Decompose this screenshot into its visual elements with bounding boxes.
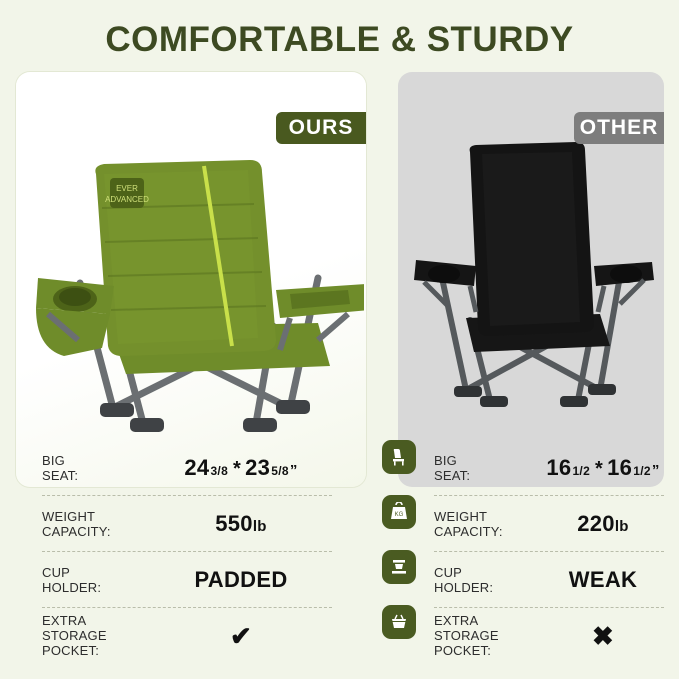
spec-row-storage-ours: EXTRA STORAGEPOCKET: ✔ xyxy=(42,608,332,663)
spec-label-storage-other: EXTRA STORAGEPOCKET: xyxy=(434,613,542,658)
spec-icon-column: KG xyxy=(382,440,424,660)
seat-sep-other: * xyxy=(595,458,603,480)
spec-label-cup-other: CUPHOLDER: xyxy=(434,565,542,595)
seat-frac2: 5/8 xyxy=(271,465,289,477)
cup-holder-icon xyxy=(382,550,416,584)
spec-label-seat: BIGSEAT: xyxy=(42,453,150,483)
seat-frac1: 3/8 xyxy=(210,465,228,477)
svg-text:ADVANCED: ADVANCED xyxy=(105,195,149,204)
other-spec-table: BIGSEAT: 161/2*161/2” WEIGHTCAPACITY: 22… xyxy=(434,440,664,663)
spec-label-seat-other: BIGSEAT: xyxy=(434,453,542,483)
ours-spec-table: BIGSEAT: 243/8*235/8” WEIGHTCAPACITY: 55… xyxy=(42,440,332,663)
spec-row-weight-ours: WEIGHTCAPACITY: 550lb xyxy=(42,496,332,552)
spec-row-weight-other: WEIGHTCAPACITY: 220lb xyxy=(434,496,664,552)
spec-row-seat-ours: BIGSEAT: 243/8*235/8” xyxy=(42,440,332,496)
spec-label-weight: WEIGHTCAPACITY: xyxy=(42,509,150,539)
spec-row-cup-other: CUPHOLDER: WEAK xyxy=(434,552,664,608)
spec-row-storage-other: EXTRA STORAGEPOCKET: ✖ xyxy=(434,608,664,663)
spec-value-seat-other: 161/2*161/2” xyxy=(542,455,664,481)
weight-unit-other: lb xyxy=(615,518,629,535)
spec-row-seat-other: BIGSEAT: 161/2*161/2” xyxy=(434,440,664,496)
seat-quote-other: ” xyxy=(652,462,660,479)
spec-value-cup-other: WEAK xyxy=(542,567,664,593)
seat-w1: 24 xyxy=(184,455,209,480)
seat-quote: ” xyxy=(290,462,298,479)
ours-badge: OURS xyxy=(276,112,366,144)
seat-sep: * xyxy=(233,458,241,480)
spec-label-cup: CUPHOLDER: xyxy=(42,565,150,595)
seat-frac2-other: 1/2 xyxy=(633,465,651,477)
product-comparison-page: COMFORTABLE & STURDY xyxy=(0,0,679,679)
svg-text:KG: KG xyxy=(395,512,404,518)
spec-value-cup-ours: PADDED xyxy=(150,567,332,593)
weight-number-ours: 550 xyxy=(215,511,253,536)
weight-unit-ours: lb xyxy=(253,518,267,535)
spec-value-storage-other: ✖ xyxy=(542,623,664,649)
spec-value-storage-ours: ✔ xyxy=(150,623,332,649)
spec-label-storage: EXTRA STORAGEPOCKET: xyxy=(42,613,150,658)
page-title: COMFORTABLE & STURDY xyxy=(0,20,679,60)
other-chair-image xyxy=(404,128,660,428)
seat-frac1-other: 1/2 xyxy=(572,465,590,477)
seat-w2: 23 xyxy=(245,455,270,480)
spec-row-cup-ours: CUPHOLDER: PADDED xyxy=(42,552,332,608)
svg-text:EVER: EVER xyxy=(116,184,138,193)
spec-value-weight-ours: 550lb xyxy=(150,511,332,537)
seat-w2-other: 16 xyxy=(607,455,632,480)
weight-bag-icon: KG xyxy=(382,495,416,529)
other-badge: OTHER xyxy=(574,112,664,144)
seat-w1-other: 16 xyxy=(546,455,571,480)
spec-label-weight-other: WEIGHTCAPACITY: xyxy=(434,509,542,539)
spec-value-seat-ours: 243/8*235/8” xyxy=(150,455,332,481)
spec-value-weight-other: 220lb xyxy=(542,511,664,537)
weight-number-other: 220 xyxy=(577,511,615,536)
storage-basket-icon xyxy=(382,605,416,639)
chair-icon xyxy=(382,440,416,474)
